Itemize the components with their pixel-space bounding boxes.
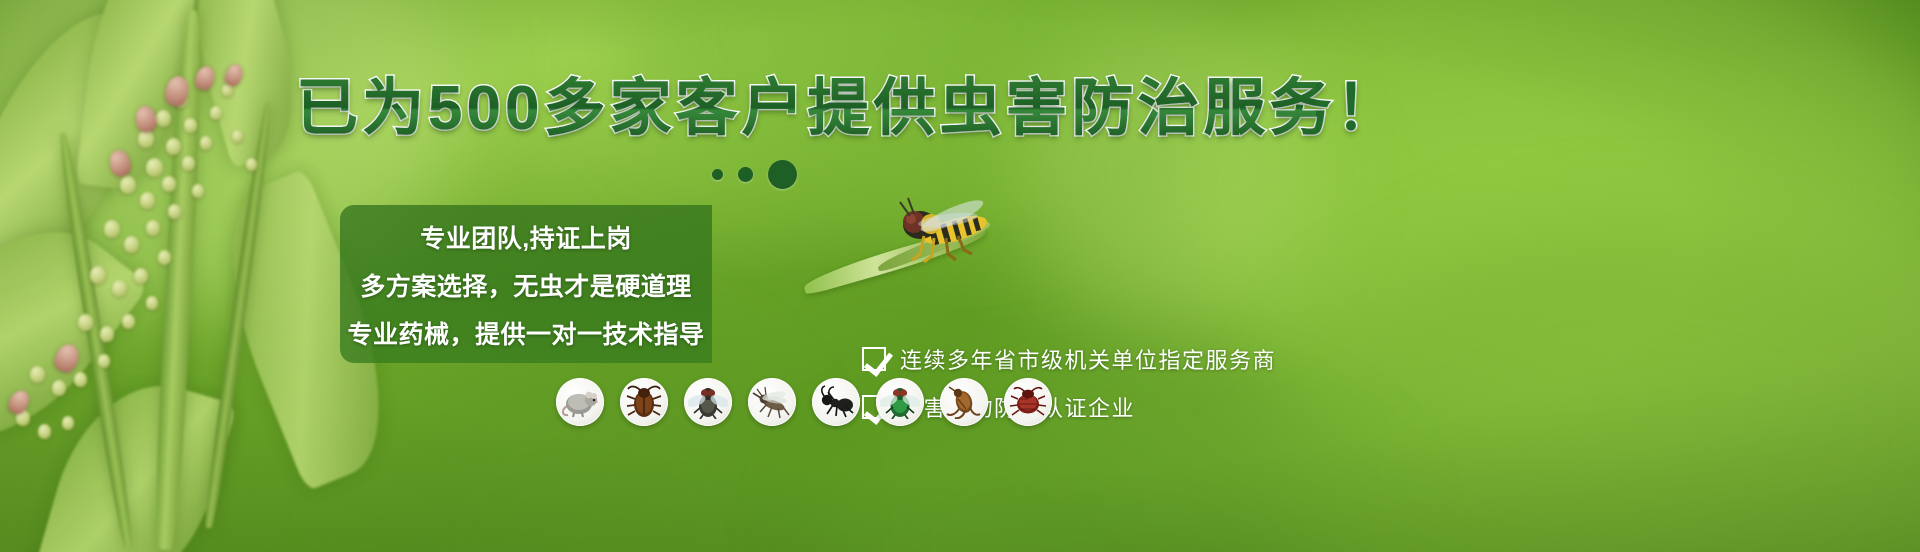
mosquito-icon[interactable] bbox=[748, 378, 796, 426]
pest-control-hero-banner: 已为500多家客户提供虫害防治服务！ 已为500多家客户提供虫害防治服务！ 专业… bbox=[0, 0, 1920, 552]
pest-icon-row bbox=[556, 378, 1052, 426]
hoverfly-icon bbox=[852, 196, 1002, 266]
bedbug-icon[interactable] bbox=[1004, 378, 1052, 426]
housefly-icon[interactable] bbox=[684, 378, 732, 426]
checkbox-checked-icon bbox=[862, 347, 886, 371]
selling-points-panel: 专业团队,持证上岗 多方案选择，无虫才是硬道理 专业药械，提供一对一技术指导 bbox=[340, 205, 712, 363]
green-bottle-fly-icon[interactable] bbox=[876, 378, 924, 426]
ant-icon[interactable] bbox=[812, 378, 860, 426]
flea-icon[interactable] bbox=[940, 378, 988, 426]
divider-dot-small-icon bbox=[712, 169, 723, 180]
divider-dot-large-icon bbox=[768, 160, 797, 189]
selling-point-line-1: 专业团队,持证上岗 bbox=[340, 215, 712, 263]
divider-dots bbox=[712, 160, 797, 189]
list-item: 连续多年省市级机关单位指定服务商 bbox=[862, 335, 1276, 383]
selling-point-line-3: 专业药械，提供一对一技术指导 bbox=[340, 311, 712, 359]
rat-icon[interactable] bbox=[556, 378, 604, 426]
selling-point-line-2: 多方案选择，无虫才是硬道理 bbox=[340, 263, 712, 311]
page-title: 已为500多家客户提供虫害防治服务！ bbox=[296, 72, 1316, 146]
divider-dot-medium-icon bbox=[738, 167, 753, 182]
hoverfly-on-leaf-decoration bbox=[790, 196, 1050, 306]
checklist-label: 连续多年省市级机关单位指定服务商 bbox=[900, 343, 1276, 375]
cockroach-icon[interactable] bbox=[620, 378, 668, 426]
